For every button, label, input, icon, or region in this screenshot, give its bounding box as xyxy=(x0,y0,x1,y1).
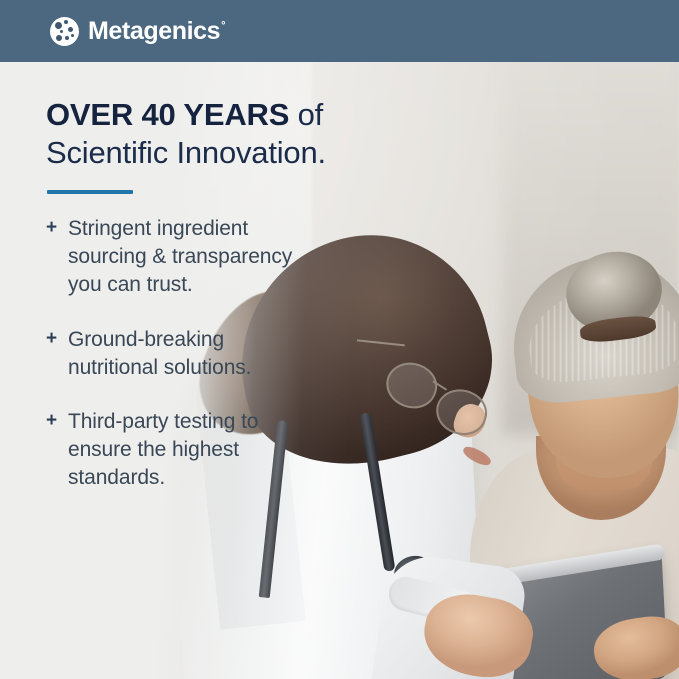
page-title: OVER 40 YEARS ofScientific Innovation. xyxy=(46,96,406,173)
list-item: + Third-party testing to ensure the high… xyxy=(46,408,679,492)
list-item: + Ground-breaking nutritional solutions. xyxy=(46,326,679,382)
advertisement-banner: Metagenics° OVER 40 YEARS ofScientific I… xyxy=(0,0,679,679)
headline-suffix: of xyxy=(289,97,323,132)
brand-logo[interactable]: Metagenics° xyxy=(50,17,225,46)
list-item-label: Third-party testing to ensure the highes… xyxy=(68,408,298,492)
promo-content: OVER 40 YEARS ofScientific Innovation. +… xyxy=(0,62,679,519)
plus-icon: + xyxy=(46,408,68,433)
headline-emphasis: OVER 40 YEARS xyxy=(46,97,289,132)
plus-icon: + xyxy=(46,326,68,351)
brand-name-text: Metagenics xyxy=(88,17,220,45)
brand-name: Metagenics° xyxy=(88,19,225,44)
accent-divider xyxy=(47,190,133,194)
list-item: + Stringent ingredient sourcing & transp… xyxy=(46,215,679,299)
plus-icon: + xyxy=(46,215,68,240)
benefit-list: + Stringent ingredient sourcing & transp… xyxy=(46,215,679,492)
brand-header-bar: Metagenics° xyxy=(0,0,679,62)
list-item-label: Stringent ingredient sourcing & transpar… xyxy=(68,215,298,299)
trademark-icon: ° xyxy=(221,20,225,32)
molecule-circle-icon xyxy=(50,17,79,46)
headline-second-line: Scientific Innovation. xyxy=(46,135,326,170)
list-item-label: Ground-breaking nutritional solutions. xyxy=(68,326,298,382)
